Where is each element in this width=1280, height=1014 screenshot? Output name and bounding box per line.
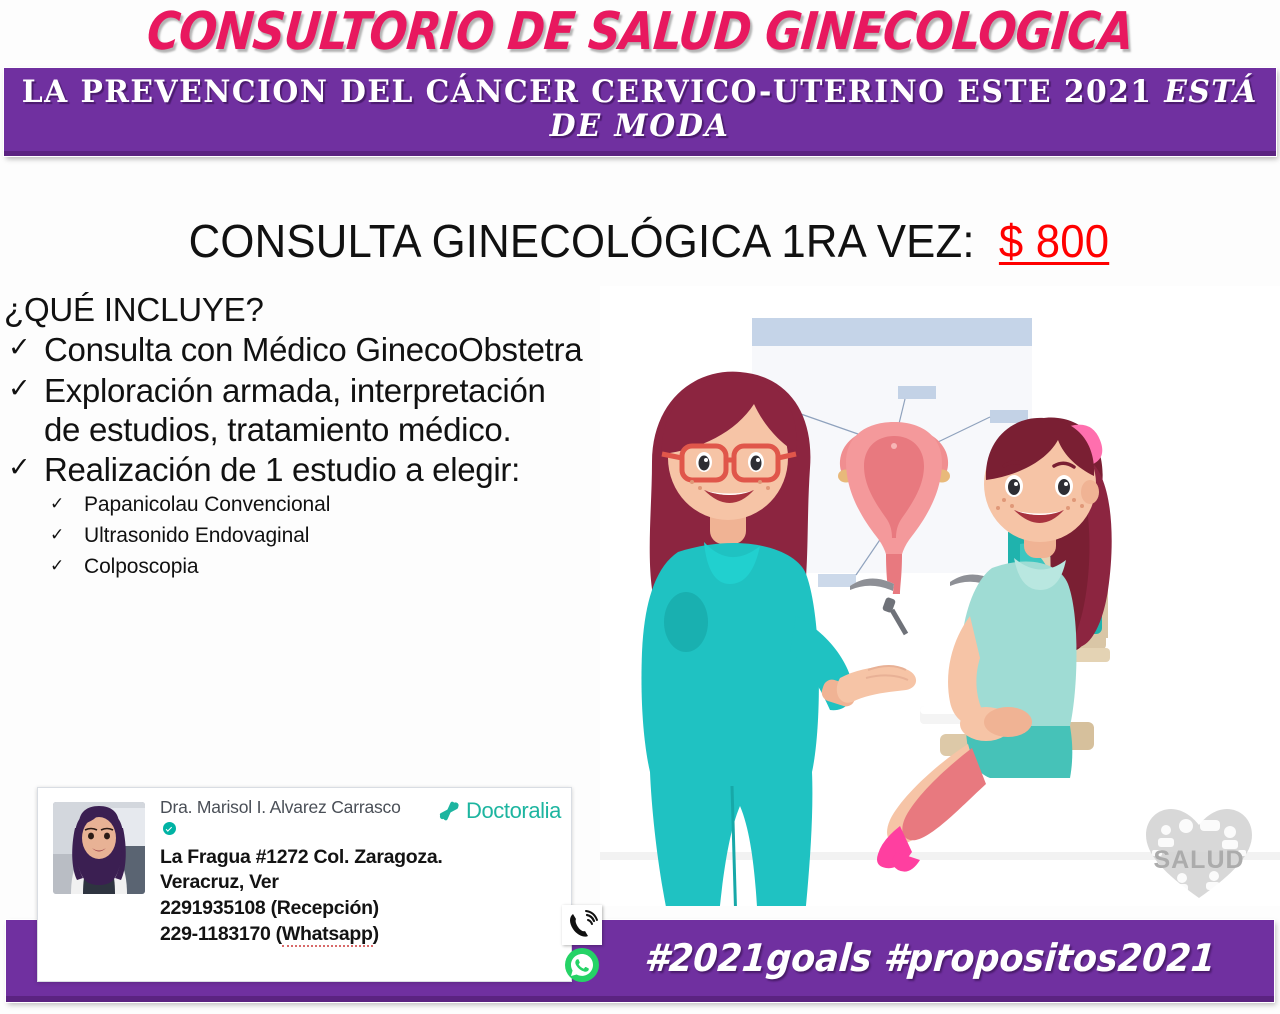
page-title: CONSULTORIO DE SALUD GINECOLOGICA bbox=[145, 6, 1135, 58]
check-icon: ✓ bbox=[8, 451, 30, 483]
includes-heading: ¿QUÉ INCLUYE? bbox=[4, 292, 587, 328]
check-icon: ✓ bbox=[50, 554, 64, 579]
includes-list: ✓ Consulta con Médico GinecoObstetra ✓ E… bbox=[2, 330, 587, 583]
verified-badge-icon bbox=[163, 822, 176, 835]
price-amount: $ 800 bbox=[999, 214, 1109, 268]
check-icon: ✓ bbox=[8, 331, 30, 363]
check-icon: ✓ bbox=[50, 492, 64, 517]
salud-watermark-text: SALUD bbox=[1153, 846, 1244, 874]
address-line-1: La Fragua #1272 Col. Zaragoza. bbox=[160, 845, 561, 871]
list-item: ✓ Realización de 1 estudio a elegir: ✓ P… bbox=[2, 450, 587, 583]
whatsapp-word: Whatsapp bbox=[282, 923, 373, 947]
address-line-2: Veracruz, Ver bbox=[160, 870, 561, 896]
list-item: ✓ Colposcopia bbox=[44, 552, 587, 583]
doctor-name-row: Dra. Marisol I. Alvarez Carrasco Doctora… bbox=[160, 797, 561, 840]
list-item-label: Ultrasonido Endovaginal bbox=[84, 524, 309, 547]
brand-title-container: CONSULTORIO DE SALUD GINECOLOGICA bbox=[0, 2, 1280, 62]
includes-section: ¿QUÉ INCLUYE? ✓ Consulta con Médico Gine… bbox=[2, 292, 587, 584]
poster-canvas: CONSULTORIO DE SALUD GINECOLOGICA LA PRE… bbox=[0, 0, 1280, 1014]
doctor-card-body: Dra. Marisol I. Alvarez Carrasco Doctora… bbox=[160, 797, 561, 975]
price-label: CONSULTA GINECOLÓGICA 1RA VEZ: bbox=[189, 214, 975, 268]
doctoralia-wordmark: Doctoralia bbox=[466, 798, 561, 824]
reception-phone[interactable]: 2291935108 (Recepción) bbox=[160, 896, 561, 922]
check-icon: ✓ bbox=[50, 523, 64, 548]
doctor-avatar bbox=[53, 802, 145, 894]
whatsapp-phone-number: 229-1183170 ( bbox=[160, 923, 282, 945]
study-options-list: ✓ Papanicolau Convencional ✓ Ultrasonido… bbox=[44, 490, 587, 583]
list-item-label: Realización de 1 estudio a elegir: bbox=[44, 451, 520, 488]
banner-headline-emphasis: ESTÁ bbox=[1164, 74, 1258, 110]
doctor-address-block: La Fragua #1272 Col. Zaragoza. Veracruz,… bbox=[160, 845, 561, 948]
banner-headline-line1: LA PREVENCION DEL CÁNCER CERVICO-UTERINO… bbox=[22, 76, 1258, 109]
doctor-name-text: Dra. Marisol I. Alvarez Carrasco bbox=[160, 797, 401, 817]
top-banner: LA PREVENCION DEL CÁNCER CERVICO-UTERINO… bbox=[4, 68, 1276, 156]
whatsapp-icon[interactable] bbox=[564, 947, 600, 983]
whatsapp-phone[interactable]: 229-1183170 (Whatsapp) bbox=[160, 922, 561, 948]
list-item-label: Colposcopia bbox=[84, 555, 198, 578]
list-item-label: Exploración armada, interpretación de es… bbox=[44, 372, 546, 448]
banner-headline-line2: DE MODA bbox=[550, 110, 730, 143]
price-headline: CONSULTA GINECOLÓGICA 1RA VEZ: $ 800 bbox=[0, 214, 1280, 268]
list-item: ✓ Exploración armada, interpretación de … bbox=[2, 371, 587, 450]
doctoralia-logo[interactable]: Doctoralia bbox=[437, 798, 561, 824]
salud-watermark: SALUD bbox=[1138, 802, 1260, 902]
list-item-label: Consulta con Médico GinecoObstetra bbox=[44, 331, 582, 368]
doctor-name: Dra. Marisol I. Alvarez Carrasco bbox=[160, 797, 410, 840]
whatsapp-paren: ) bbox=[373, 923, 379, 945]
phone-ringing-icon[interactable] bbox=[562, 905, 602, 945]
doctoralia-mark-icon bbox=[437, 799, 461, 823]
hashtags-text: #2021goals #propositos2021 bbox=[643, 936, 1217, 980]
list-item: ✓ Consulta con Médico GinecoObstetra bbox=[2, 330, 587, 369]
list-item: ✓ Papanicolau Convencional bbox=[44, 490, 587, 521]
doctor-contact-card[interactable]: Dra. Marisol I. Alvarez Carrasco Doctora… bbox=[37, 787, 572, 982]
banner-headline-text: LA PREVENCION DEL CÁNCER CERVICO-UTERINO… bbox=[22, 74, 1164, 110]
check-icon: ✓ bbox=[8, 372, 30, 404]
list-item: ✓ Ultrasonido Endovaginal bbox=[44, 521, 587, 552]
list-item-label: Papanicolau Convencional bbox=[84, 493, 330, 516]
